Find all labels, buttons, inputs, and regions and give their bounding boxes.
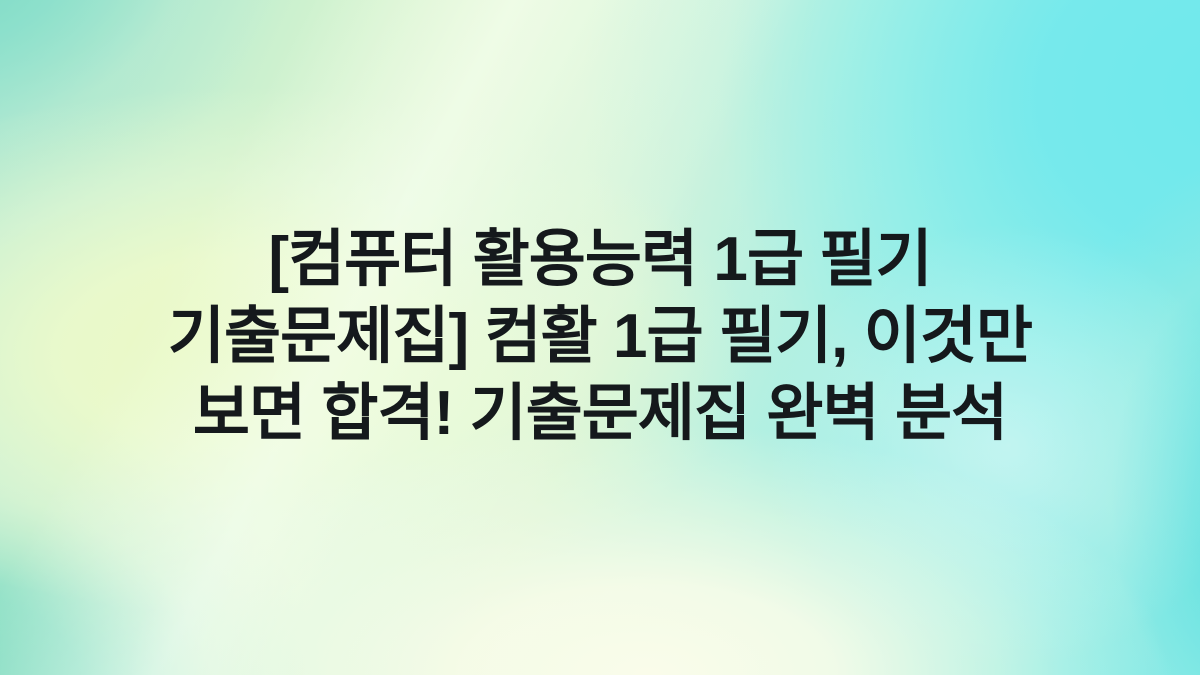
card-title: [컴퓨터 활용능력 1급 필기 기출문제집] 컴활 1급 필기, 이것만 보면 … bbox=[150, 222, 1050, 453]
thumbnail-card: [컴퓨터 활용능력 1급 필기 기출문제집] 컴활 1급 필기, 이것만 보면 … bbox=[0, 0, 1200, 675]
title-block: [컴퓨터 활용능력 1급 필기 기출문제집] 컴활 1급 필기, 이것만 보면 … bbox=[0, 0, 1200, 675]
